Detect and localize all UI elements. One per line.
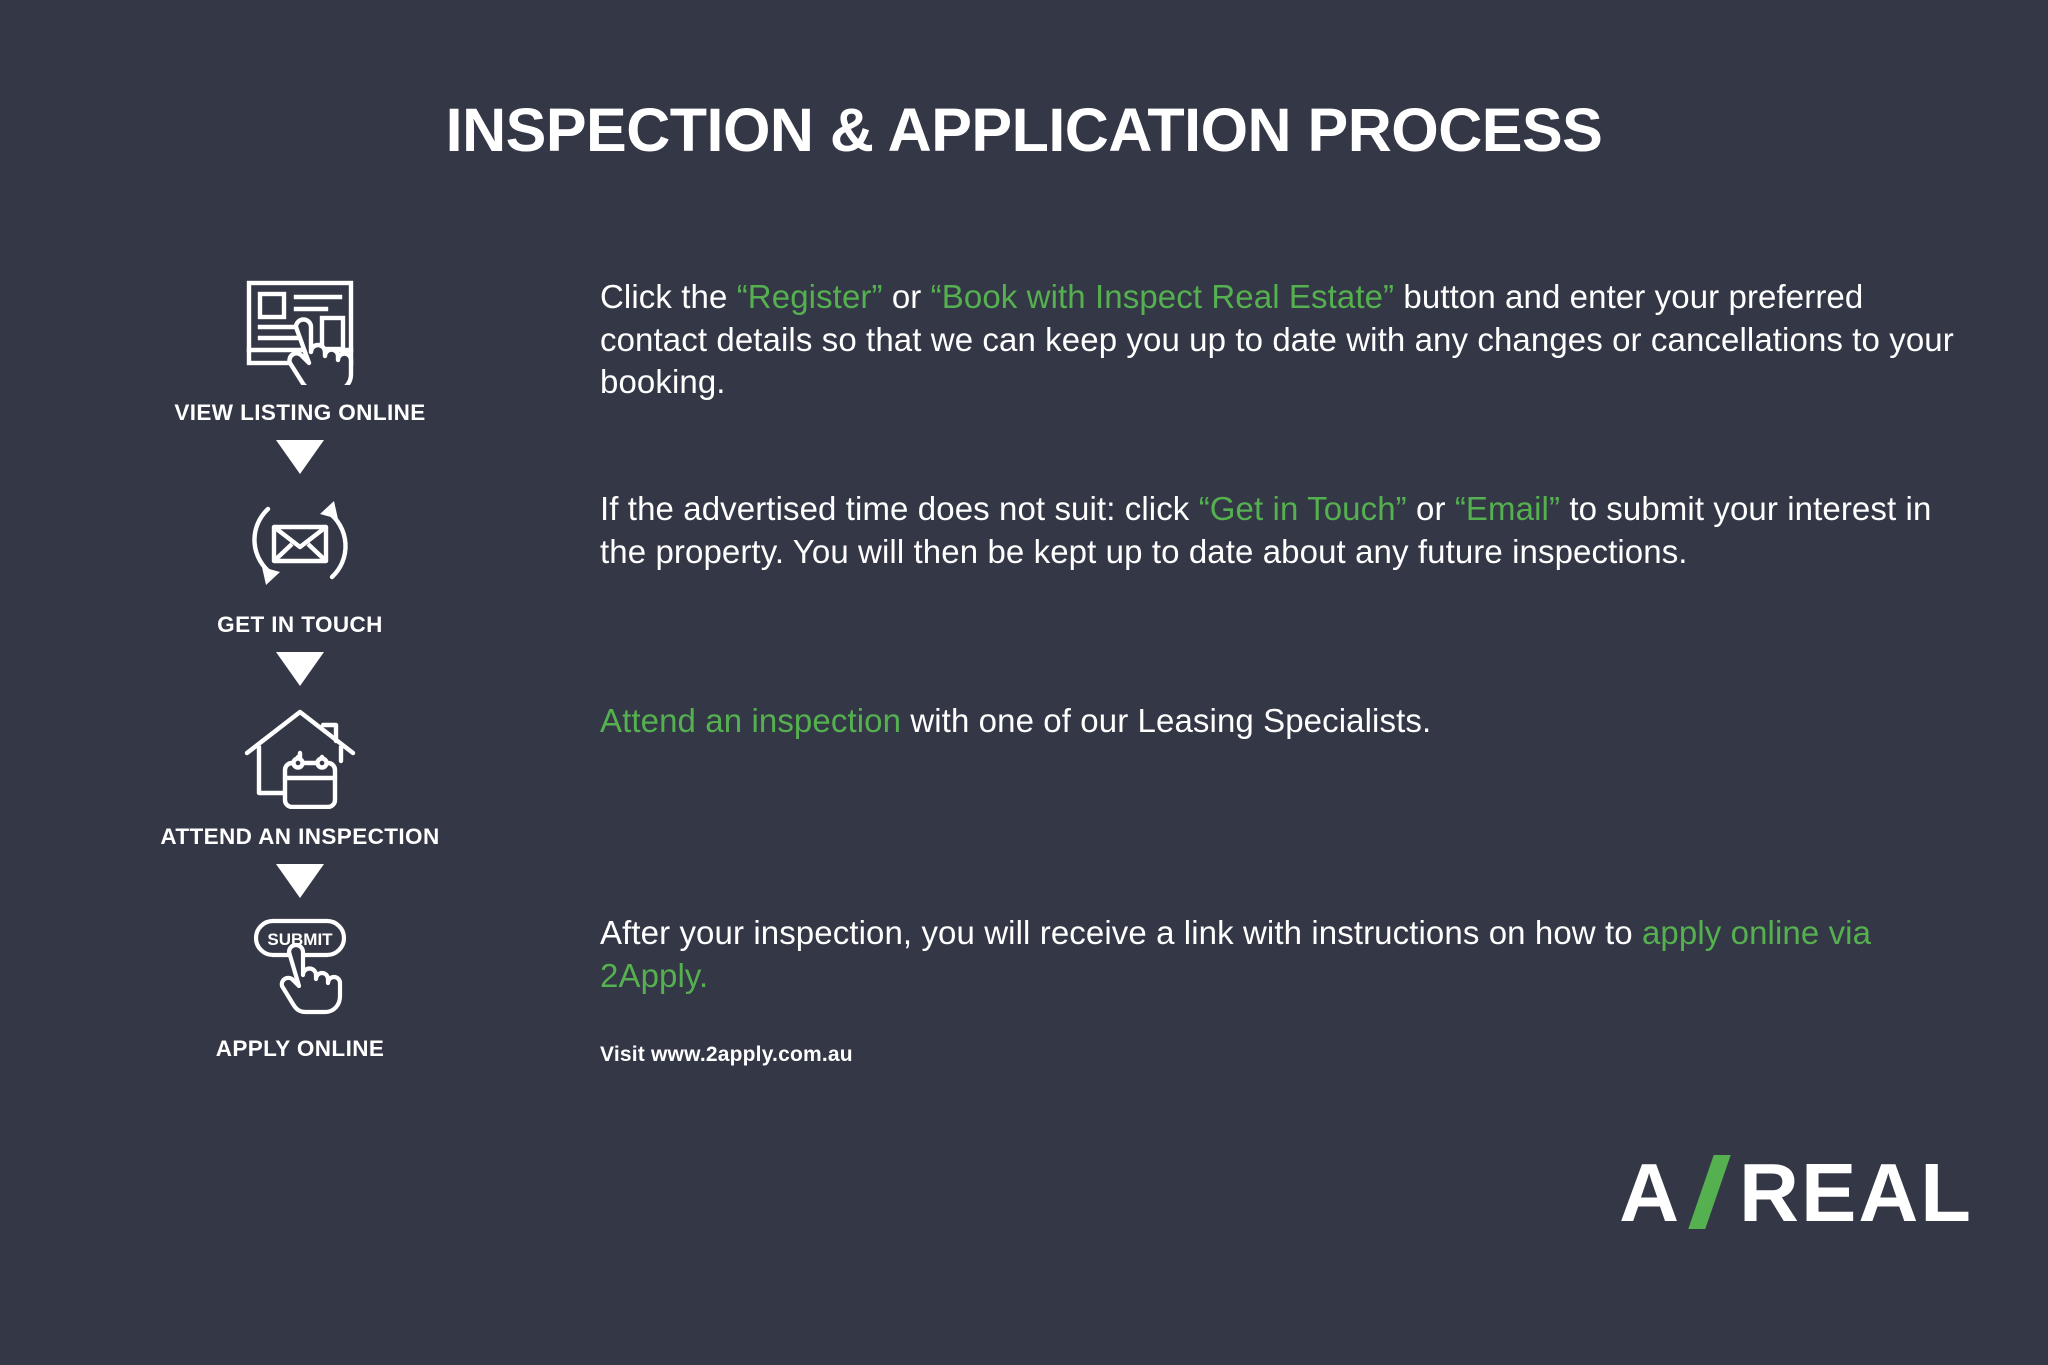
logo-slash-icon (1687, 1155, 1733, 1229)
step-body: Attend an inspection with one of our Lea… (600, 700, 2048, 743)
step-body: Click the “Register” or “Book with Inspe… (600, 276, 2048, 404)
step-connector-arrow (0, 638, 600, 700)
step-label: VIEW LISTING ONLINE (174, 400, 425, 426)
envelope-refresh-icon (225, 488, 375, 598)
page-title: INSPECTION & APPLICATION PROCESS (0, 95, 2048, 165)
step-label: GET IN TOUCH (217, 612, 383, 638)
step-text-accent: “Book with Inspect Real Estate” (931, 278, 1394, 315)
step-text-segment: or (883, 278, 931, 315)
step-text-segment: Click the (600, 278, 737, 315)
step-row: GET IN TOUCH If the advertised time does… (0, 488, 2048, 638)
step-body: After your inspection, you will receive … (600, 912, 2048, 1068)
house-calendar-icon (225, 700, 375, 810)
step-text-segment: with one of our Leasing Specialists. (901, 702, 1431, 739)
step-row: ATTEND AN INSPECTION Attend an inspectio… (0, 700, 2048, 850)
step-row: VIEW LISTING ONLINE Click the “Register”… (0, 276, 2048, 426)
visit-url-line: Visit www.2apply.com.au (600, 1041, 1958, 1068)
step-icon-column: ATTEND AN INSPECTION (0, 700, 600, 850)
step-connector-arrow (0, 850, 600, 912)
brand-logo: A REAL (1619, 1147, 1973, 1237)
submit-button-cursor-icon: SUBMIT (225, 912, 375, 1022)
step-connector-arrow (0, 426, 600, 488)
infographic-canvas: INSPECTION & APPLICATION PROCESS (0, 0, 2048, 1365)
logo-part-one: A (1619, 1151, 1681, 1234)
listing-page-cursor-icon (225, 276, 375, 386)
step-text-accent: “Get in Touch” (1199, 490, 1407, 527)
logo-text: A REAL (1619, 1151, 1973, 1234)
step-text-segment: After your inspection, you will receive … (600, 914, 1642, 951)
step-icon-column: SUBMIT APPLY ONLINE (0, 912, 600, 1062)
triangle-down-icon (276, 652, 324, 686)
step-icon-column: GET IN TOUCH (0, 488, 600, 638)
step-label: APPLY ONLINE (216, 1036, 385, 1062)
step-text-accent: “Email” (1455, 490, 1560, 527)
logo-part-two: REAL (1739, 1151, 1973, 1234)
step-text-accent: Attend an inspection (600, 702, 901, 739)
steps-list: VIEW LISTING ONLINE Click the “Register”… (0, 276, 2048, 1068)
triangle-down-icon (276, 440, 324, 474)
step-text-segment: or (1407, 490, 1455, 527)
triangle-down-icon (276, 864, 324, 898)
step-icon-column: VIEW LISTING ONLINE (0, 276, 600, 426)
step-row: SUBMIT APPLY ONLINE After your inspectio… (0, 912, 2048, 1068)
step-text-accent: “Register” (737, 278, 883, 315)
step-body: If the advertised time does not suit: cl… (600, 488, 2048, 573)
step-label: ATTEND AN INSPECTION (160, 824, 439, 850)
step-text-segment: If the advertised time does not suit: cl… (600, 490, 1199, 527)
